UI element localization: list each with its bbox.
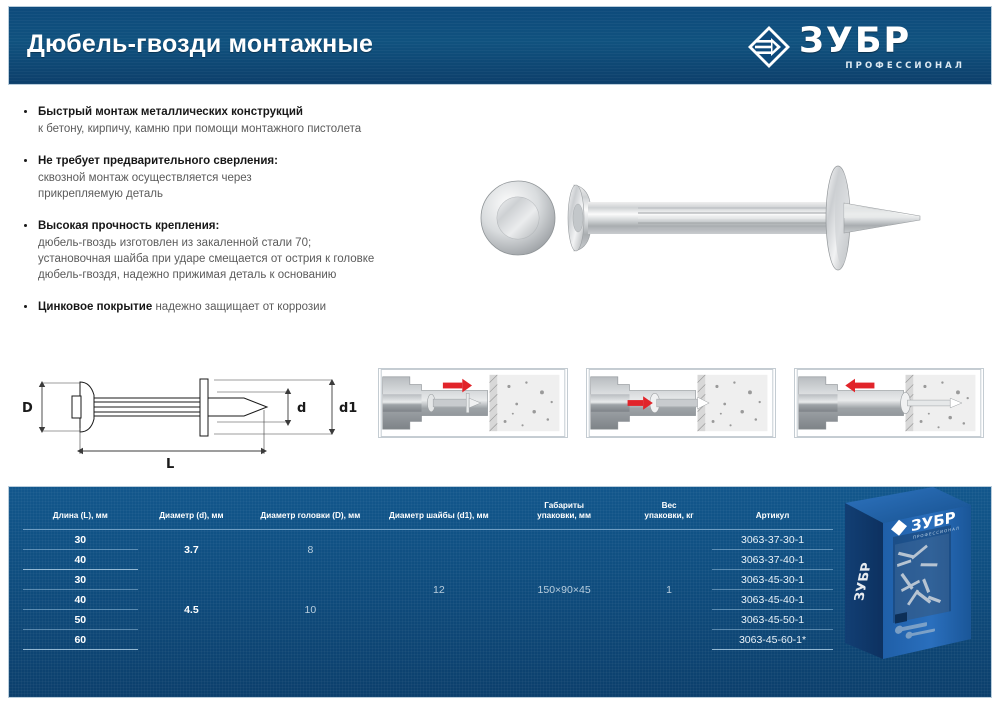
cell-length: 50 xyxy=(23,610,138,630)
washer-front-view xyxy=(481,181,555,255)
dim-label-D: D xyxy=(22,401,33,416)
table-row: 30 3.7 8 12 150×90×45 1 3063-37-30-1 xyxy=(23,530,833,550)
col-header-pack-weight-l2: упаковки, кг xyxy=(644,511,693,520)
feature-body: дюбель-гвоздь изготовлен из закаленной с… xyxy=(38,235,452,283)
col-header-pack-weight: Вес упаковки, кг xyxy=(626,493,712,530)
col-header-pack-size: Габариты упаковки, мм xyxy=(502,493,626,530)
dimension-drawing: D d d1 L xyxy=(14,362,360,474)
brand-name: ЗУБР xyxy=(799,21,911,61)
installation-steps xyxy=(378,368,990,440)
cell-length: 30 xyxy=(23,530,138,550)
feature-item-3: Высокая прочность крепления: дюбель-гвоз… xyxy=(22,218,452,283)
cell-pack-size: 150×90×45 xyxy=(502,530,626,650)
feature-title: Высокая прочность крепления: xyxy=(38,218,452,234)
package-box-photo: ЗУБР ПРОФЕССИОНАЛ ЗУБР xyxy=(815,486,985,661)
feature-title: Не требует предварительного сверления: xyxy=(38,153,452,169)
col-header-length: Длина (L), мм xyxy=(23,493,138,530)
install-step-2 xyxy=(586,368,776,438)
col-header-washer-diameter: Диаметр шайбы (d1), мм xyxy=(376,493,503,530)
col-header-head-diameter: Диаметр головки (D), мм xyxy=(245,493,375,530)
col-header-pack-weight-l1: Вес xyxy=(662,501,677,510)
cell-length: 60 xyxy=(23,630,138,650)
feature-item-4: Цинковое покрытие надежно защищает от ко… xyxy=(22,299,452,315)
dim-label-d1: d1 xyxy=(339,401,357,416)
cell-head-diameter-group-1: 8 xyxy=(245,530,375,570)
table-header-row: Длина (L), мм Диаметр (d), мм Диаметр го… xyxy=(23,493,833,530)
feature-item-1: Быстрый монтаж металлических конструкций… xyxy=(22,104,452,137)
zubr-diamond-icon xyxy=(747,25,791,69)
page-header: Дюбель-гвозди монтажные ЗУБР ПРОФЕССИОНА… xyxy=(8,6,992,85)
page-title: Дюбель-гвозди монтажные xyxy=(27,30,373,59)
dim-label-L: L xyxy=(166,457,174,472)
cell-length: 40 xyxy=(23,590,138,610)
feature-list: Быстрый монтаж металлических конструкций… xyxy=(22,104,452,331)
install-step-1 xyxy=(378,368,568,438)
feature-title: Цинковое покрытие надежно защищает от ко… xyxy=(38,299,452,315)
cell-washer-diameter: 12 xyxy=(376,530,503,650)
cell-diameter-group-2: 4.5 xyxy=(138,570,246,650)
dowel-nail-side-view xyxy=(568,166,920,270)
cell-head-diameter-group-2: 10 xyxy=(245,570,375,650)
col-header-pack-size-l2: упаковки, мм xyxy=(537,511,591,520)
spec-table: Длина (L), мм Диаметр (d), мм Диаметр го… xyxy=(23,493,833,650)
spec-table-block: Длина (L), мм Диаметр (d), мм Диаметр го… xyxy=(8,486,992,698)
feature-title: Быстрый монтаж металлических конструкций xyxy=(38,104,452,120)
cell-pack-weight: 1 xyxy=(626,530,712,650)
col-header-diameter: Диаметр (d), мм xyxy=(138,493,246,530)
feature-item-2: Не требует предварительного сверления: с… xyxy=(22,153,452,202)
product-photo xyxy=(470,130,990,275)
dim-label-d: d xyxy=(297,401,306,416)
feature-title-tail: надежно защищает от коррозии xyxy=(152,301,326,313)
product-spec-sheet: Дюбель-гвозди монтажные ЗУБР ПРОФЕССИОНА… xyxy=(0,0,1000,706)
brand-tagline: ПРОФЕССИОНАЛ xyxy=(845,61,965,71)
feature-body: к бетону, кирпичу, камню при помощи монт… xyxy=(38,121,452,137)
col-header-pack-size-l1: Габариты xyxy=(544,501,584,510)
cell-diameter-group-1: 3.7 xyxy=(138,530,246,570)
feature-title-strong: Цинковое покрытие xyxy=(38,301,152,313)
brand-logo: ЗУБР ПРОФЕССИОНАЛ xyxy=(747,21,967,75)
feature-body: сквозной монтаж осуществляется через при… xyxy=(38,170,452,202)
install-step-3 xyxy=(794,368,984,438)
cell-length: 30 xyxy=(23,570,138,590)
cell-length: 40 xyxy=(23,550,138,570)
